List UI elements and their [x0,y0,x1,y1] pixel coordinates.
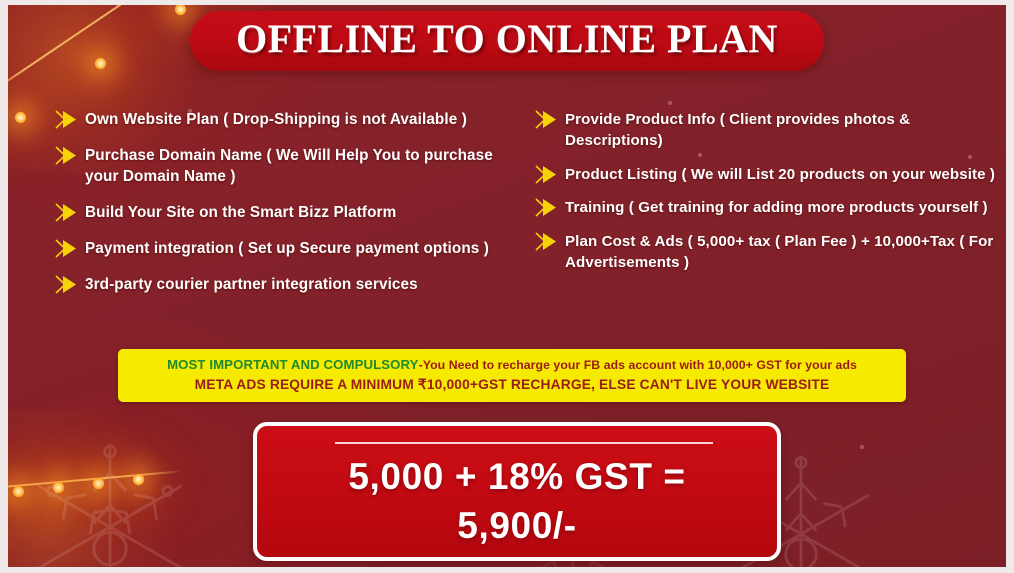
feature-column-left: Own Website Plan ( Drop-Shipping is not … [54,109,532,309]
light-bulb [132,473,145,486]
price-divider [335,442,713,444]
speck [668,101,672,105]
speck [860,445,864,449]
double-chevron-icon [54,239,80,258]
light-bulb [52,481,65,494]
promotional-poster: OFFLINE TO ONLINE PLAN Own Website Plan … [0,0,1014,573]
double-chevron-icon [54,110,80,129]
feature-label: Product Listing ( We will List 20 produc… [565,164,995,185]
price-box: 5,000 + 18% GST = 5,900/- [253,422,781,561]
price-line-1: 5,000 + 18% GST = [257,452,777,501]
double-chevron-icon [534,110,560,129]
feature-item: Own Website Plan ( Drop-Shipping is not … [54,109,520,131]
double-chevron-icon [534,165,560,184]
light-bulb [92,477,105,490]
double-chevron-icon [54,275,80,294]
feature-item: Training ( Get training for adding more … [534,197,1000,218]
feature-label: Own Website Plan ( Drop-Shipping is not … [85,109,467,131]
notice-line-1: MOST IMPORTANT AND COMPULSORY-You Need t… [128,355,896,375]
feature-label: Purchase Domain Name ( We Will Help You … [85,145,520,188]
feature-label: Plan Cost & Ads ( 5,000+ tax ( Plan Fee … [565,231,1000,274]
notice-detail: You Need to recharge your FB ads account… [423,358,857,372]
feature-item: 3rd-party courier partner integration se… [54,274,520,296]
feature-item: Payment integration ( Set up Secure paym… [54,238,520,260]
feature-label: Build Your Site on the Smart Bizz Platfo… [85,202,396,224]
double-chevron-icon [54,146,80,165]
feature-label: Provide Product Info ( Client provides p… [565,109,1000,152]
snowflake-decoration [20,437,200,567]
double-chevron-icon [534,198,560,217]
page-title: OFFLINE TO ONLINE PLAN [236,18,778,60]
feature-item: Provide Product Info ( Client provides p… [534,109,1000,152]
feature-item: Build Your Site on the Smart Bizz Platfo… [54,202,520,224]
feature-label: Payment integration ( Set up Secure paym… [85,238,489,260]
feature-item: Product Listing ( We will List 20 produc… [534,164,1000,185]
compulsory-notice-banner: MOST IMPORTANT AND COMPULSORY-You Need t… [118,349,906,402]
bottom-left-glow [8,410,198,567]
poster-canvas: OFFLINE TO ONLINE PLAN Own Website Plan … [8,5,1006,567]
notice-line-2: META ADS REQUIRE A MINIMUM ₹10,000+GST R… [128,376,896,395]
price-line-2: 5,900/- [257,501,777,550]
feature-label: Training ( Get training for adding more … [565,197,988,218]
double-chevron-icon [534,232,560,251]
double-chevron-icon [54,203,80,222]
feature-item: Plan Cost & Ads ( 5,000+ tax ( Plan Fee … [534,231,1000,274]
feature-column-right: Provide Product Info ( Client provides p… [532,109,1000,309]
feature-columns: Own Website Plan ( Drop-Shipping is not … [8,109,1006,309]
light-bulb [12,485,25,498]
price-text: 5,000 + 18% GST = 5,900/- [257,452,777,550]
feature-label: 3rd-party courier partner integration se… [85,274,418,296]
notice-headline: MOST IMPORTANT AND COMPULSORY [167,357,419,372]
string-lights-bottom-left [8,445,268,555]
feature-item: Purchase Domain Name ( We Will Help You … [54,145,520,188]
title-banner: OFFLINE TO ONLINE PLAN [8,11,1006,71]
title-pill: OFFLINE TO ONLINE PLAN [190,11,824,71]
